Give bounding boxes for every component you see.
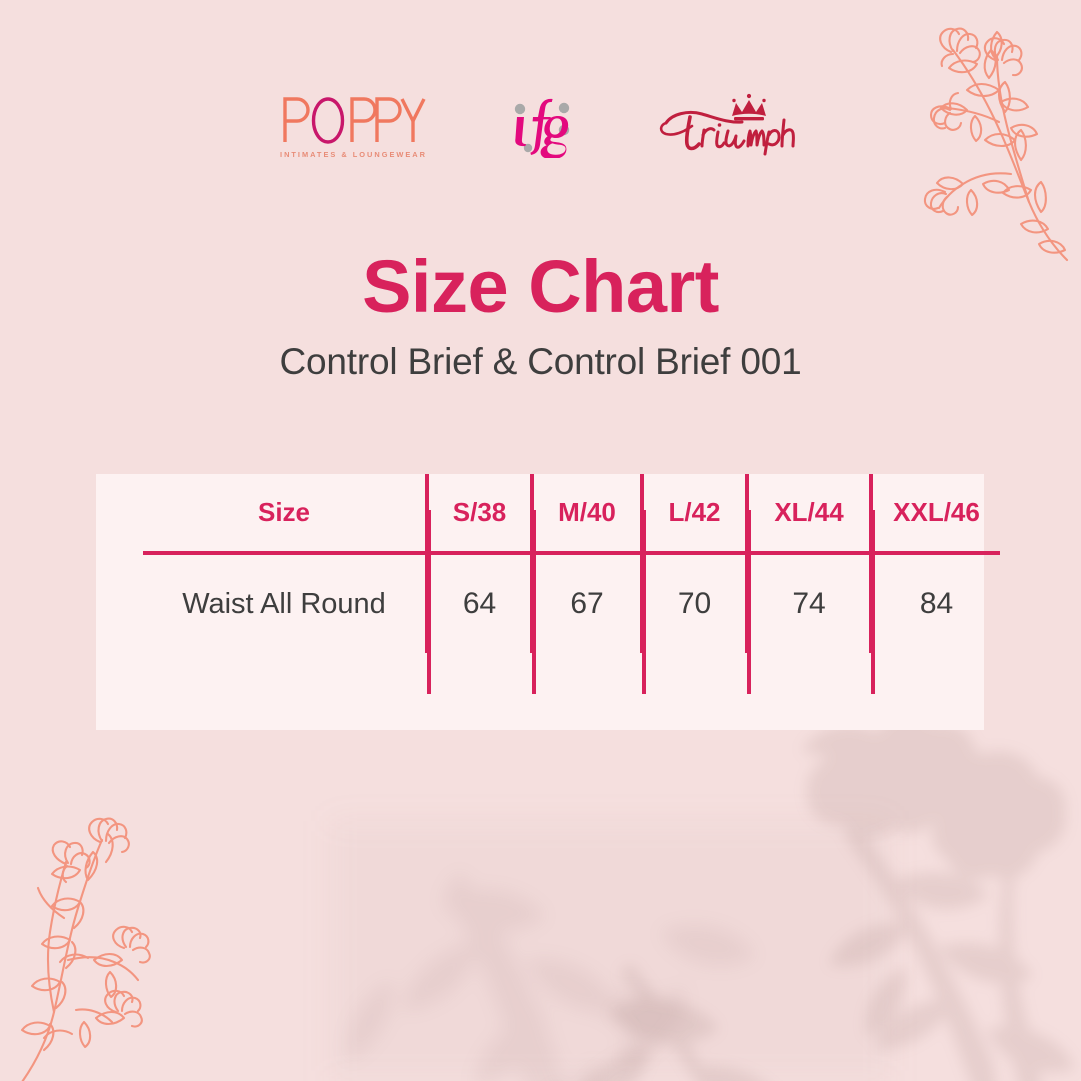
column-header-l-42: L/42 <box>642 474 747 553</box>
table-row: Waist All Round 64 67 70 74 84 <box>143 553 1000 653</box>
page-subtitle: Control Brief & Control Brief 001 <box>0 342 1081 383</box>
cell-waist-xxl-46: 84 <box>871 553 1000 653</box>
size-table-body: Waist All Round 64 67 70 74 84 <box>143 553 1000 653</box>
cell-waist-s-38: 64 <box>427 553 532 653</box>
cell-waist-m-40: 67 <box>532 553 642 653</box>
column-header-size: Size <box>143 474 427 553</box>
leaf-shadow-overlay-bottom-centre <box>300 811 780 1081</box>
title-block: Size Chart Control Brief & Control Brief… <box>0 248 1081 382</box>
soft-shadow-panel <box>330 821 890 1081</box>
column-header-xl-44: XL/44 <box>747 474 871 553</box>
size-chart-card: Size S/38 M/40 L/42 XL/44 XXL/46 Waist A… <box>96 474 984 730</box>
table-header-row: Size S/38 M/40 L/42 XL/44 XXL/46 <box>143 474 1000 553</box>
column-header-m-40: M/40 <box>532 474 642 553</box>
page-title: Size Chart <box>0 248 1081 326</box>
size-table-head: Size S/38 M/40 L/42 XL/44 XXL/46 <box>143 474 1000 553</box>
size-table: Size S/38 M/40 L/42 XL/44 XXL/46 Waist A… <box>143 474 1000 653</box>
poppy-wordmark <box>280 96 428 144</box>
brand-logo-row: INTIMATES & LOUNGEWEAR <box>0 82 1081 168</box>
cell-waist-l-42: 70 <box>642 553 747 653</box>
triumph-logo <box>656 92 802 158</box>
size-table-wrapper: Size S/38 M/40 L/42 XL/44 XXL/46 Waist A… <box>143 474 960 730</box>
column-header-s-38: S/38 <box>427 474 532 553</box>
botanical-branch-bottom-left-icon <box>14 810 214 1081</box>
poppy-tagline: INTIMATES & LOUNGEWEAR <box>280 150 427 159</box>
row-label-waist-all-round: Waist All Round <box>143 553 427 653</box>
ifg-logo <box>506 94 578 158</box>
size-chart-poster: INTIMATES & LOUNGEWEAR <box>0 0 1081 1081</box>
rose-shadow-overlay-bottom-right <box>501 711 1081 1081</box>
column-header-xxl-46: XXL/46 <box>871 474 1000 553</box>
poppy-logo: INTIMATES & LOUNGEWEAR <box>280 96 428 159</box>
cell-waist-xl-44: 74 <box>747 553 871 653</box>
crown-icon <box>732 94 766 121</box>
